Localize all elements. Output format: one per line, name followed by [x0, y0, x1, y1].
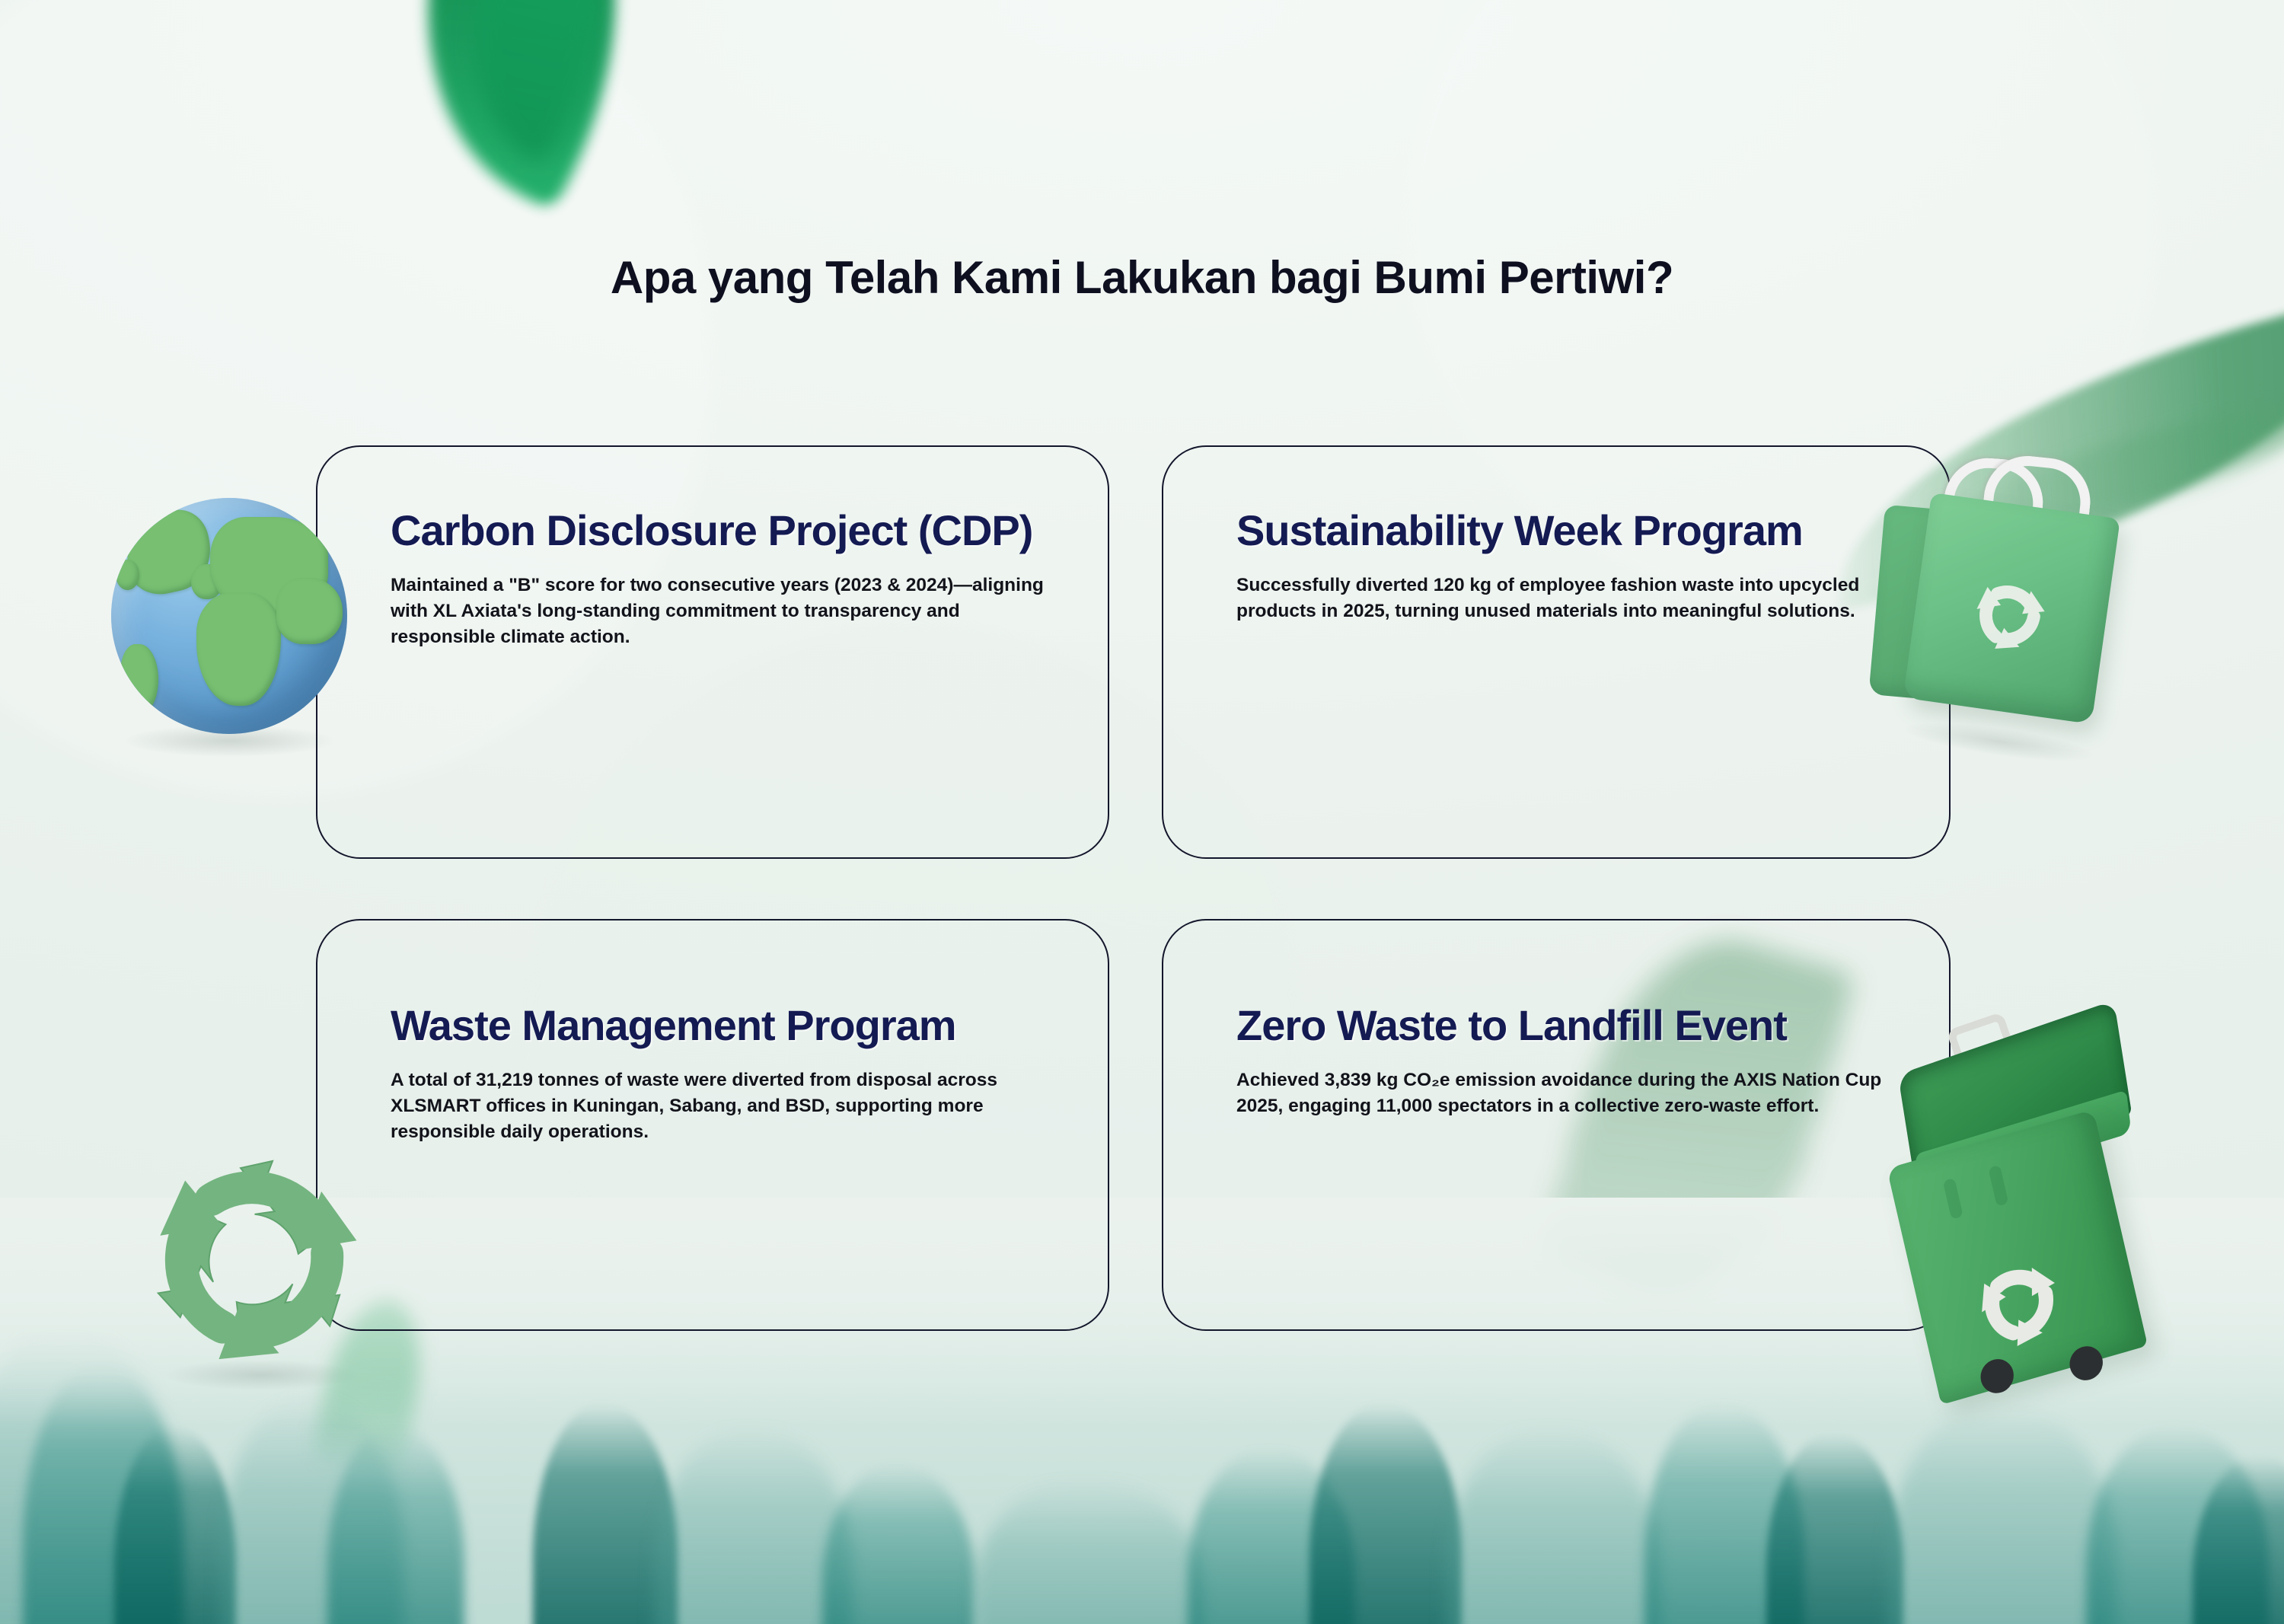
- card-title: Zero Waste to Landfill Event: [1236, 1003, 1903, 1048]
- bin-wheel: [2066, 1342, 2106, 1384]
- bag-front-panel: [1903, 493, 2120, 724]
- globe-sphere: [111, 498, 347, 734]
- card-body: Maintained a "B" score for two consecuti…: [391, 573, 1061, 649]
- card-sustainability-week-program[interactable]: Sustainability Week Program Successfully…: [1162, 445, 1951, 859]
- page-title: Apa yang Telah Kami Lakukan bagi Bumi Pe…: [0, 251, 2284, 304]
- card-title: Sustainability Week Program: [1236, 508, 1903, 553]
- globe-landmass: [196, 592, 282, 706]
- card-title: Carbon Disclosure Project (CDP): [391, 508, 1062, 553]
- card-body: Achieved 3,839 kg CO₂e emission avoidanc…: [1236, 1067, 1891, 1119]
- recycle-symbol-icon: [1952, 1237, 2085, 1371]
- card-body: Successfully diverted 120 kg of employee…: [1236, 573, 1891, 624]
- recycle-arrows-icon: [128, 1134, 379, 1386]
- card-body: A total of 31,219 tonnes of waste were d…: [391, 1067, 1061, 1144]
- recycle-arc: [1996, 1271, 2037, 1294]
- recycle-shadow: [166, 1360, 356, 1390]
- infographic-page: Apa yang Telah Kami Lakukan bagi Bumi Pe…: [0, 0, 2284, 1624]
- card-waste-management-program[interactable]: Waste Management Program A total of 31,2…: [316, 919, 1109, 1331]
- bin-rib: [1988, 1165, 2008, 1207]
- bin-rib: [1943, 1178, 1963, 1220]
- recycle-symbol-icon: [1954, 563, 2064, 668]
- recycle-arrows-svg: [128, 1134, 379, 1386]
- card-content: Carbon Disclosure Project (CDP) Maintain…: [391, 508, 1062, 650]
- globe-landmass: [120, 644, 158, 715]
- recycle-arc: [258, 1243, 337, 1348]
- card-zero-waste-to-landfill-event[interactable]: Zero Waste to Landfill Event Achieved 3,…: [1162, 919, 1951, 1331]
- shopping-bag-recycle-icon: [1849, 439, 2163, 779]
- globe-landmass: [116, 560, 139, 590]
- recycle-bin-icon: [1868, 1018, 2213, 1410]
- card-content: Zero Waste to Landfill Event Achieved 3,…: [1236, 1003, 1903, 1119]
- card-title: Waste Management Program: [391, 1003, 1062, 1048]
- globe-landmass: [276, 578, 343, 644]
- globe-icon: [97, 487, 364, 754]
- card-content: Sustainability Week Program Successfully…: [1236, 508, 1903, 624]
- card-content: Waste Management Program A total of 31,2…: [391, 1003, 1062, 1145]
- card-carbon-disclosure-project[interactable]: Carbon Disclosure Project (CDP) Maintain…: [316, 445, 1109, 859]
